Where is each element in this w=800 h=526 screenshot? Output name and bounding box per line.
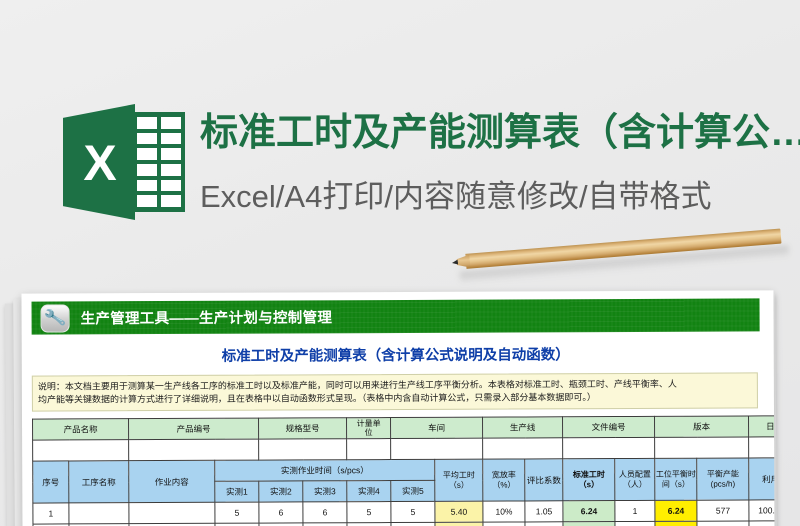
th-process-name: 工序名称 [69,461,129,503]
info-header-cell: 日期 [749,416,775,437]
info-value-cell[interactable] [655,437,749,458]
info-header-cell: 产品编号 [129,418,259,440]
cell-station-balance-time[interactable]: 6.24 [655,500,697,521]
cell-balance-capacity[interactable] [697,521,749,526]
banner-subtitle: Excel/A4打印/内容随意修改/自带格式 [200,176,800,218]
info-header-cell: 计量单位 [347,418,391,439]
info-value-cell[interactable] [347,439,391,460]
cell-utilization[interactable] [749,521,774,526]
th-avg-time: 平均工时（s） [435,459,483,501]
grid-cell [137,180,157,192]
excel-logo-letter: X [63,104,135,220]
info-value-cell[interactable] [33,440,129,461]
note-line-2: 均产能等关键数据的计算方式进行了详细说明，且在表格中以自动函数形式呈现。（表格中… [38,390,752,406]
info-value-cell[interactable] [391,438,483,459]
document-note: 说明：本文档主要用于测算某一生产线各工序的标准工时以及标准产能，同时可以用来进行… [32,372,758,411]
cell-relax-rate[interactable] [483,522,525,526]
info-value-cell[interactable] [749,437,775,458]
document-toolband: 🔧 生产管理工具——生产计划与控制管理 [31,298,759,334]
cell-std-time[interactable] [563,522,615,526]
grid-cell [161,180,181,192]
th-station-balance-time: 工位平衡时间（s） [655,458,697,500]
th-measure-1: 实测1 [215,481,259,502]
grid-cell [161,133,181,145]
cell-relax-rate[interactable]: 10% [483,501,525,522]
cell-utilization[interactable]: 100.00% [749,500,775,521]
cell-manpower[interactable] [615,521,655,526]
grid-cell [137,133,157,145]
wrench-glyph: 🔧 [43,308,67,328]
document-title: 标准工时及产能测算表（含计算公式说明及自动函数） [32,342,760,366]
screenshot-stage: X 标准工时及产能测算表（含计算公… Excel/A4打印/内容随意修改/自带格… [0,0,800,526]
th-rating-coef: 评比系数 [525,459,563,501]
cell-measure-5[interactable] [391,522,435,526]
grid-cell [161,195,181,207]
pencil-tip [452,260,458,265]
cell-seq[interactable]: 1 [33,503,69,524]
info-value-cell[interactable] [563,437,655,458]
th-measure-3: 实测3 [303,481,347,502]
banner: X 标准工时及产能测算表（含计算公… Excel/A4打印/内容随意修改/自带格… [0,46,800,186]
toolband-title: 生产管理工具——生产计划与控制管理 [81,306,333,328]
info-value-cell[interactable] [259,439,347,460]
th-seq: 序号 [33,461,69,503]
cell-manpower[interactable]: 1 [615,500,655,521]
cell-measure-4[interactable] [347,523,391,526]
th-measure-4: 实测4 [347,481,391,502]
spec-table[interactable]: 产品名称 产品编号 规格型号 计量单位 车间 生产线 文件编号 版本 日期 [32,415,775,526]
cell-std-time[interactable]: 6.24 [563,501,615,522]
th-std-time: 标准工时（s） [563,459,615,501]
grid-cell [161,164,181,176]
info-header-cell: 版本 [655,416,749,437]
document-content: 🔧 生产管理工具——生产计划与控制管理 标准工时及产能测算表（含计算公式说明及自… [31,298,768,526]
excel-logo-grid [137,117,181,207]
banner-title: 标准工时及产能测算表（含计算公… [200,108,800,158]
th-measure-2: 实测2 [259,481,303,502]
document-preview[interactable]: 🔧 生产管理工具——生产计划与控制管理 标准工时及产能测算表（含计算公式说明及自… [21,290,774,526]
cell-measure-5[interactable]: 5 [391,501,435,522]
table-header-row-1: 序号 工序名称 作业内容 实测作业时间（s/pcs） 平均工时（s） 宽放率（%… [33,458,775,482]
grid-cell [137,117,157,129]
cell-process-name[interactable] [69,503,129,524]
info-value-cell[interactable] [129,439,259,461]
info-header-cell: 产品名称 [33,419,129,440]
cell-rating-coef[interactable]: 1.05 [525,501,563,522]
info-header-cell: 生产线 [483,417,563,438]
cell-measure-2[interactable]: 6 [259,502,303,523]
wrench-icon: 🔧 [41,304,70,332]
cell-measure-1[interactable]: 5 [215,502,259,523]
cell-rating-coef[interactable] [525,522,563,526]
th-manpower: 人员配置（人） [615,458,655,500]
excel-logo-icon: X [63,104,185,220]
cell-work-content[interactable] [129,502,215,523]
grid-cell [137,195,157,207]
grid-cell [161,148,181,160]
grid-cell [137,164,157,176]
cell-station-balance-time[interactable] [655,521,697,526]
cell-measure-3[interactable]: 6 [303,502,347,523]
th-measure-group: 实测作业时间（s/pcs） [215,459,435,481]
cell-avg-time[interactable]: 5.40 [435,501,483,522]
info-header-cell: 规格型号 [259,418,347,439]
th-utilization: 利用率 [749,458,775,500]
th-work-content: 作业内容 [129,460,215,502]
info-header-cell: 文件编号 [563,416,655,437]
cell-avg-time[interactable] [435,522,483,526]
cell-balance-capacity[interactable]: 577 [697,500,749,521]
grid-cell [161,117,181,129]
cell-measure-4[interactable]: 5 [347,502,391,523]
th-balance-capacity: 平衡产能(pcs/h) [697,458,749,500]
info-header-cell: 车间 [391,417,483,438]
th-relax-rate: 宽放率（%） [483,459,525,501]
info-value-cell[interactable] [483,438,563,459]
th-measure-5: 实测5 [391,480,435,501]
grid-cell [137,148,157,160]
